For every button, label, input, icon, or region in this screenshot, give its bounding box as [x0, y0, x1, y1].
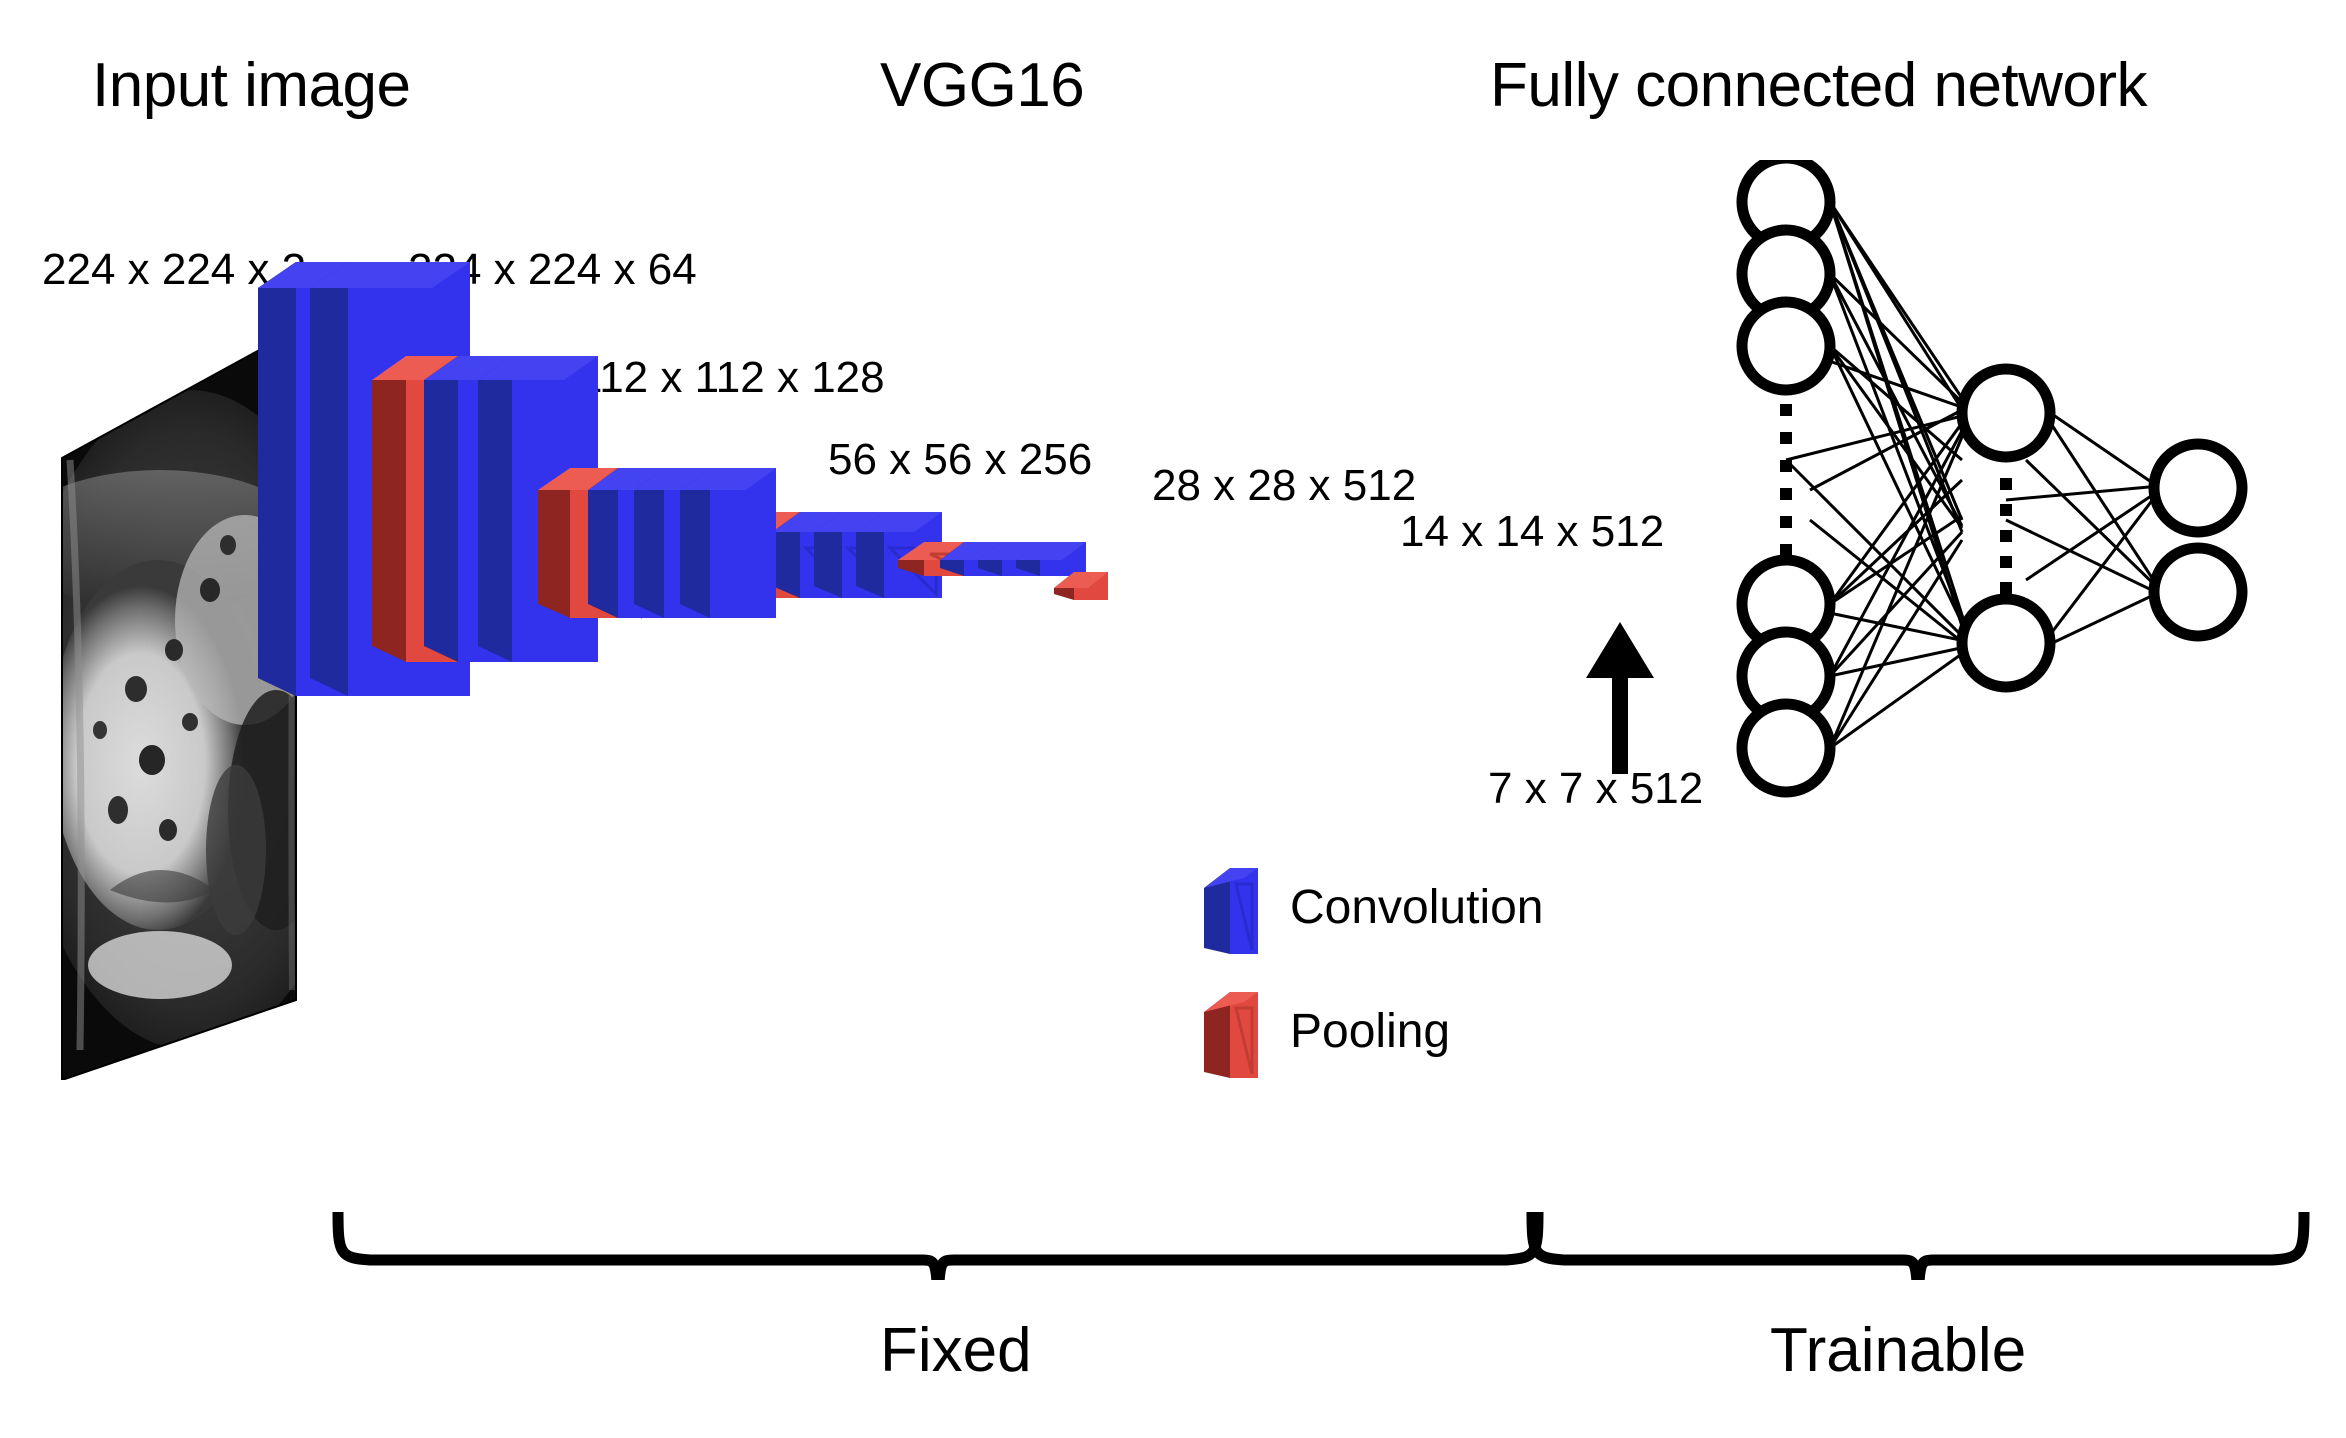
fc-output-nodes: [2154, 444, 2242, 636]
legend-label-pooling: Pooling: [1290, 1008, 1450, 1056]
fc-input-nodes: [1742, 160, 1830, 792]
fc-node-input: [1742, 302, 1830, 390]
fc-node-output: [2154, 548, 2242, 636]
brace-fixed: [330, 1200, 1550, 1280]
fc-network-graph: [1690, 160, 2330, 800]
fc-hidden-ellipsis-icon: [2000, 478, 2012, 594]
fc-hidden-nodes: [1962, 369, 2050, 687]
legend-label-convolution: Convolution: [1290, 884, 1544, 932]
pooling-swatch-icon: [1200, 986, 1270, 1086]
figure-canvas: Input image VGG16 Fully connected networ…: [0, 0, 2346, 1438]
fc-node-output: [2154, 444, 2242, 532]
fc-input-ellipsis-icon: [1780, 404, 1792, 556]
brace-label-fixed: Fixed: [880, 1320, 1032, 1382]
fc-node-input: [1742, 704, 1830, 792]
input-image-title: Input image: [92, 55, 411, 117]
final-pool-arrow-icon: [1580, 620, 1660, 780]
fc-node-hidden: [1962, 599, 2050, 687]
brace-label-trainable: Trainable: [1770, 1320, 2026, 1382]
fc-network-title: Fully connected network: [1490, 55, 2147, 117]
convolution-swatch-icon: [1200, 862, 1270, 962]
fc-node-hidden: [1962, 369, 2050, 457]
brace-trainable: [1524, 1200, 2314, 1280]
vgg16-title: VGG16: [880, 55, 1084, 117]
